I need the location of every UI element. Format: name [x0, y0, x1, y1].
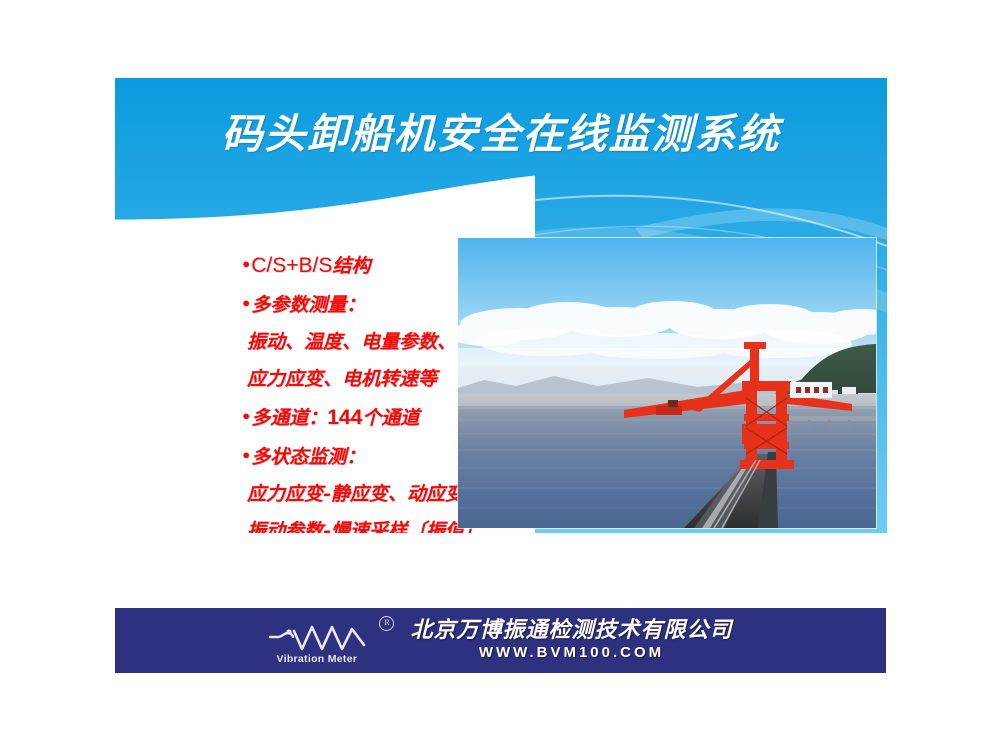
vibration-meter-waveform-icon — [268, 619, 386, 653]
body-line-5-suffix: 个通道 — [362, 407, 419, 429]
body-line-2-text: 多参数测量： — [251, 294, 365, 316]
body-line-6-text: 多状态监测： — [251, 446, 365, 468]
bullet-icon: • — [241, 407, 251, 426]
slide-root: 码头卸船机安全在线监测系统 •C/S+B/S结构 •多参数测量： 振动、温度、电… — [0, 0, 1000, 750]
channel-count: 144 — [327, 406, 362, 429]
company-name: 北京万博振通检测技术有限公司 — [410, 617, 732, 643]
bullet-icon: • — [241, 446, 251, 465]
logo-subtitle: Vibration Meter — [276, 653, 357, 665]
footer-bar: R Vibration Meter 北京万博振通检测技术有限公司 WWW.BVM… — [115, 608, 886, 673]
bullet-icon: • — [241, 255, 251, 274]
body-line-5-prefix: 多通道： — [251, 407, 327, 429]
registered-trademark-icon: R — [379, 616, 394, 631]
company-logo: R Vibration Meter — [268, 617, 396, 665]
photo-illustration — [458, 238, 876, 528]
dock-unloader-photo — [458, 238, 876, 528]
bullet-icon: • — [241, 294, 251, 313]
body-line-1-latin: C/S+B/S — [251, 254, 332, 277]
company-website: WWW.BVM100.COM — [410, 643, 732, 662]
company-info: 北京万博振通检测技术有限公司 WWW.BVM100.COM — [410, 617, 732, 664]
page-title: 码头卸船机安全在线监测系统 — [115, 100, 887, 160]
body-line-1-cjk: 结构 — [332, 255, 370, 277]
